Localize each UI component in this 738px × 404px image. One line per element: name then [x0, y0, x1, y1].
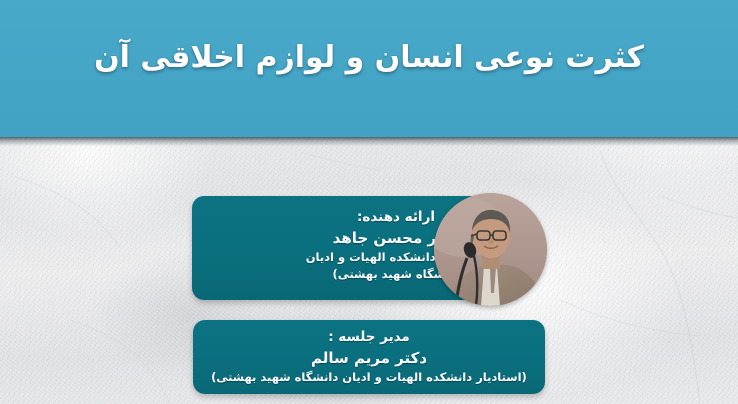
speaker-portrait-photo [434, 193, 547, 306]
moderator-name: دکتر مریم سالم [193, 347, 545, 369]
moderator-role-label: مدیر جلسه : [193, 328, 545, 347]
header-shadow-divider [0, 137, 738, 146]
moderator-affiliation: (استادیار دانشکده الهیات و ادیان دانشگاه… [193, 369, 545, 386]
page-title: کثرت نوعی انسان و لوازم اخلاقی آن [0, 40, 738, 75]
moderator-card: مدیر جلسه : دکتر مریم سالم (استادیار دان… [193, 320, 545, 394]
seminar-poster: کثرت نوعی انسان و لوازم اخلاقی آن ارائه … [0, 0, 738, 404]
